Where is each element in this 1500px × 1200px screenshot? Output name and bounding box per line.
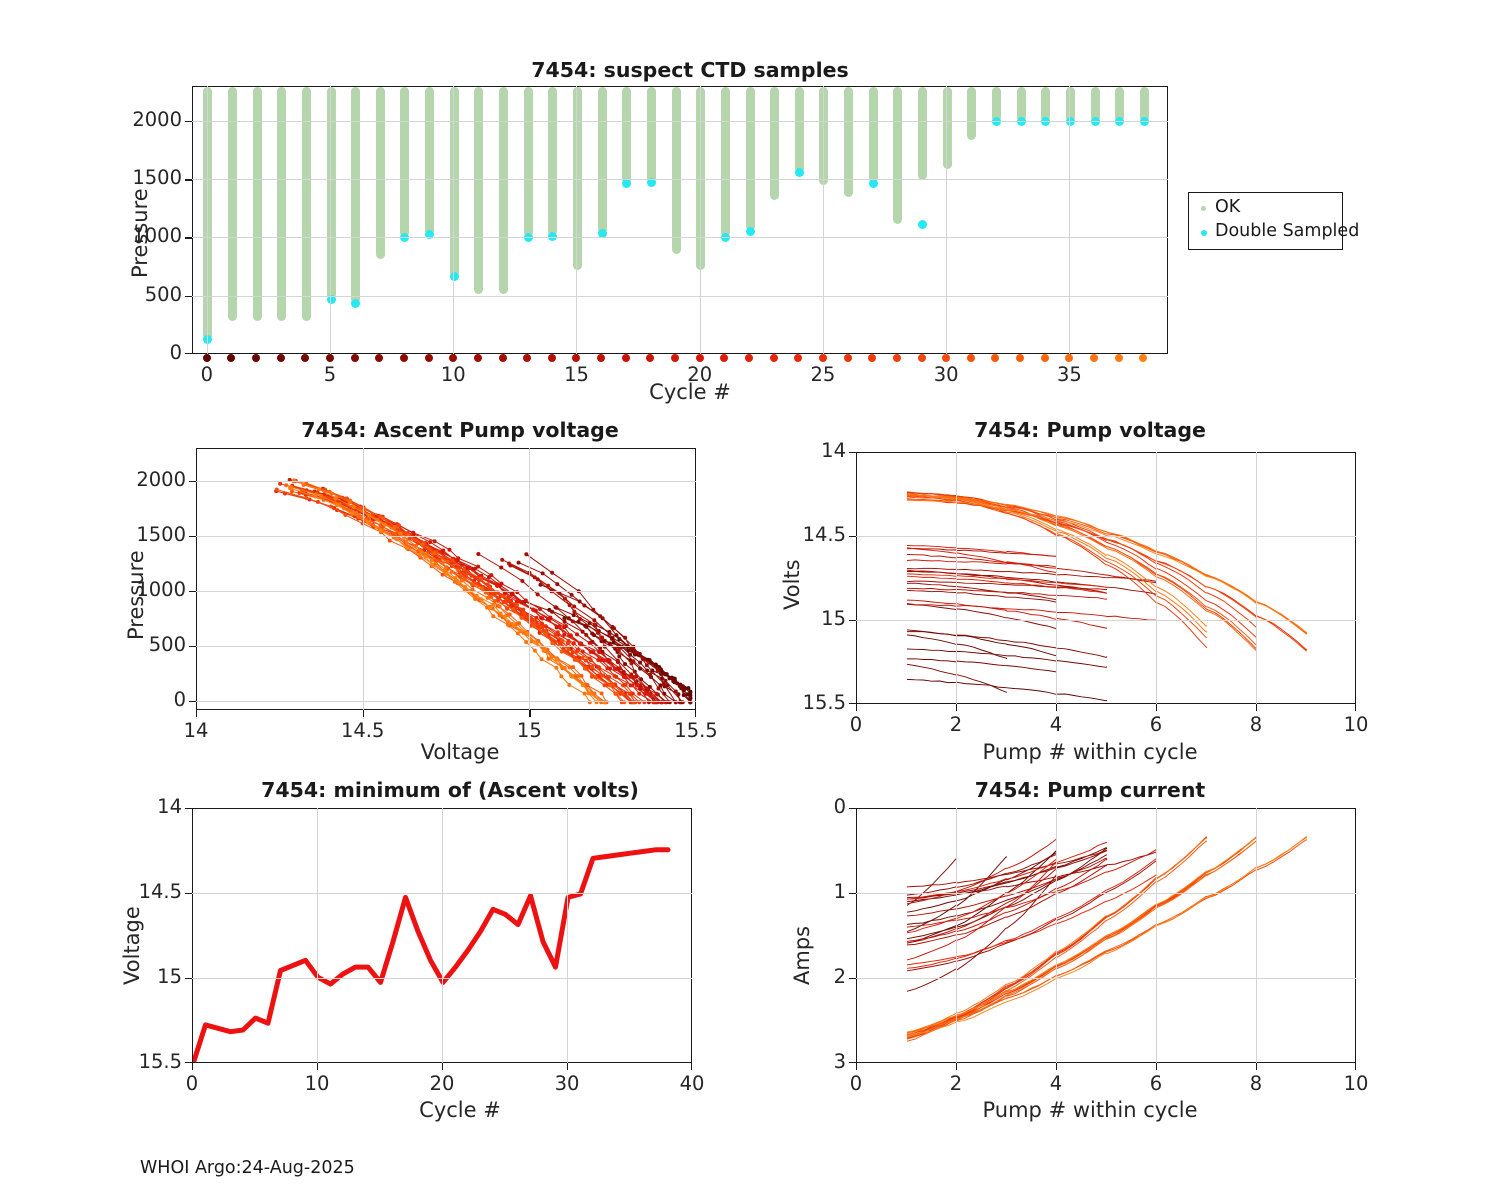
x-tick-mark <box>956 1063 957 1070</box>
pumpcurrent-x-axis-label: Pump # within cycle <box>920 1098 1260 1122</box>
gridline-horizontal <box>196 536 696 537</box>
gridline-horizontal <box>196 701 696 702</box>
cycle-axis-marker <box>1139 354 1147 362</box>
gridline-horizontal <box>856 893 1356 894</box>
y-tick-label-1000: 1000 <box>42 224 182 247</box>
x-tick-mark <box>1355 1063 1356 1070</box>
x-tick-mark <box>1156 704 1157 711</box>
y-tick-label-3: 3 <box>706 1050 846 1073</box>
cycle-axis-marker <box>425 354 433 362</box>
y-tick-mark <box>185 296 192 297</box>
y-tick-label-500: 500 <box>42 283 182 306</box>
ctd-double-sampled-marker <box>992 117 1001 126</box>
gridline-vertical <box>1256 808 1257 1063</box>
gridline-vertical <box>946 86 947 354</box>
y-tick-label-2: 2 <box>706 965 846 988</box>
cycle-axis-marker <box>227 354 235 362</box>
y-tick-label-500: 500 <box>46 633 186 656</box>
x-tick-mark <box>192 1063 193 1070</box>
cycle-axis-marker <box>696 354 704 362</box>
x-tick-mark <box>1056 704 1057 711</box>
legend-marker-double-sampled-icon <box>1201 230 1207 236</box>
ctd-bar <box>524 87 533 237</box>
y-tick-mark <box>849 703 856 704</box>
ctd-bar <box>253 87 262 321</box>
y-tick-mark <box>849 808 856 809</box>
y-tick-label-2000: 2000 <box>46 468 186 491</box>
x-tick-mark <box>363 710 364 717</box>
x-tick-mark <box>1156 1063 1157 1070</box>
gridline-vertical <box>1056 808 1057 1063</box>
ctd-bar <box>351 87 360 304</box>
x-tick-label-20: 20 <box>382 1072 502 1095</box>
ctd-bar <box>302 87 311 321</box>
y-tick-label-15.5: 15.5 <box>42 1050 182 1073</box>
pumpvolt-x-axis-label: Pump # within cycle <box>920 740 1260 764</box>
x-tick-mark <box>529 710 530 717</box>
cycle-axis-marker <box>671 354 679 362</box>
y-tick-mark <box>185 121 192 122</box>
ctd-bar <box>548 87 557 236</box>
x-tick-mark <box>856 1063 857 1070</box>
pumpcurrent-panel-title: 7454: Pump current <box>840 778 1340 802</box>
ctd-double-sampled-marker <box>1066 117 1075 126</box>
ctd-bar <box>795 87 804 173</box>
cycle-axis-marker <box>622 354 630 362</box>
ctd-bar <box>474 87 483 294</box>
ctd-bar <box>967 87 976 140</box>
x-tick-label-10: 10 <box>1296 713 1416 736</box>
x-tick-mark <box>1355 704 1356 711</box>
y-tick-mark <box>185 179 192 180</box>
ctd-double-sampled-marker <box>351 299 360 308</box>
ctd-bar <box>450 87 459 277</box>
cycle-axis-marker <box>1041 354 1049 362</box>
pumpcurrent-plot-area <box>856 808 1356 1063</box>
gridline-horizontal <box>196 646 696 647</box>
ctd-double-sampled-marker <box>746 227 755 236</box>
cycle-axis-marker <box>794 354 802 362</box>
x-tick-label-10: 10 <box>393 363 513 386</box>
ctd-bar <box>228 87 237 321</box>
gridline-vertical <box>1256 452 1257 704</box>
gridline-horizontal <box>192 179 1168 180</box>
cycle-axis-marker <box>844 354 852 362</box>
pump-voltage-traces <box>857 453 1356 704</box>
ctd-bar <box>376 87 385 259</box>
cycle-axis-marker <box>277 354 285 362</box>
minvolts-x-axis-label: Cycle # <box>290 1098 630 1122</box>
gridline-vertical <box>1156 808 1157 1063</box>
ctd-double-sampled-marker <box>548 232 557 241</box>
y-tick-label-1500: 1500 <box>42 166 182 189</box>
cycle-axis-marker <box>499 354 507 362</box>
gridline-horizontal <box>192 121 1168 122</box>
gridline-vertical <box>567 808 568 1063</box>
ctd-bar <box>647 87 656 183</box>
ctd-double-sampled-marker <box>1115 117 1124 126</box>
ctd-bar <box>869 87 878 183</box>
ctd-bar <box>943 87 952 169</box>
gridline-vertical <box>1156 452 1157 704</box>
gridline-vertical <box>576 86 577 354</box>
ctd-bar <box>598 87 607 234</box>
y-tick-label-0: 0 <box>46 688 186 711</box>
gridline-vertical <box>317 808 318 1063</box>
x-tick-label-35: 35 <box>1009 363 1129 386</box>
ctd-bar <box>893 87 902 224</box>
ctd-panel-title: 7454: suspect CTD samples <box>380 58 1000 82</box>
x-tick-mark <box>1056 1063 1057 1070</box>
y-tick-mark <box>185 978 192 979</box>
ctd-bar <box>918 87 927 180</box>
y-tick-mark <box>189 536 196 537</box>
ctd-plot-area <box>192 86 1168 354</box>
cycle-axis-marker <box>449 354 457 362</box>
gridline-horizontal <box>196 481 696 482</box>
y-tick-mark <box>849 1062 856 1063</box>
gridline-horizontal <box>856 978 1356 979</box>
pumpvolt-panel-title: 7454: Pump voltage <box>820 418 1360 442</box>
y-tick-mark <box>189 701 196 702</box>
y-tick-label-14: 14 <box>706 439 846 462</box>
cycle-axis-marker <box>893 354 901 362</box>
gridline-vertical <box>1056 452 1057 704</box>
ctd-bar <box>277 87 286 321</box>
cycle-axis-marker <box>1065 354 1073 362</box>
legend-label-ok: OK <box>1215 197 1240 217</box>
cycle-axis-marker <box>646 354 654 362</box>
cycle-axis-marker <box>770 354 778 362</box>
ascent-panel-title: 7454: Ascent Pump voltage <box>200 418 720 442</box>
ctd-double-sampled-marker <box>1140 117 1149 126</box>
x-tick-label-0: 0 <box>132 1072 252 1095</box>
y-tick-mark <box>189 481 196 482</box>
gridline-horizontal <box>192 296 1168 297</box>
y-tick-label-0: 0 <box>42 341 182 364</box>
x-tick-label-14: 14 <box>136 719 256 742</box>
x-tick-label-20: 20 <box>640 363 760 386</box>
y-tick-label-14: 14 <box>42 795 182 818</box>
ctd-bar <box>819 87 828 185</box>
y-tick-label-15.5: 15.5 <box>706 691 846 714</box>
gridline-vertical <box>956 452 957 704</box>
x-tick-mark <box>1256 704 1257 711</box>
y-tick-label-14.5: 14.5 <box>706 523 846 546</box>
y-tick-label-14.5: 14.5 <box>42 880 182 903</box>
cycle-axis-marker <box>745 354 753 362</box>
cycle-axis-marker <box>301 354 309 362</box>
cycle-axis-marker <box>819 354 827 362</box>
ctd-double-sampled-marker <box>1091 117 1100 126</box>
y-tick-label-15: 15 <box>706 607 846 630</box>
y-tick-mark <box>185 1062 192 1063</box>
cycle-axis-marker <box>400 354 408 362</box>
gridline-vertical <box>529 448 530 710</box>
cycle-axis-marker <box>523 354 531 362</box>
x-tick-label-30: 30 <box>507 1072 627 1095</box>
legend-marker-ok-icon <box>1201 206 1206 211</box>
gridline-horizontal <box>192 237 1168 238</box>
gridline-horizontal <box>196 591 696 592</box>
ctd-bar <box>327 87 336 299</box>
ctd-double-sampled-marker <box>203 335 212 344</box>
gridline-vertical <box>956 808 957 1063</box>
ctd-bar <box>622 87 631 184</box>
gridline-horizontal <box>856 536 1356 537</box>
ctd-double-sampled-marker <box>795 168 804 177</box>
y-tick-label-1000: 1000 <box>46 578 186 601</box>
cycle-axis-marker <box>868 354 876 362</box>
x-tick-mark <box>856 704 857 711</box>
x-tick-label-40: 40 <box>632 1072 752 1095</box>
y-tick-mark <box>185 353 192 354</box>
cycle-axis-marker <box>942 354 950 362</box>
y-tick-mark <box>189 591 196 592</box>
legend-label-double-sampled: Double Sampled <box>1215 221 1359 241</box>
x-tick-label-5: 5 <box>270 363 390 386</box>
x-tick-mark <box>695 710 696 717</box>
ctd-bar <box>425 87 434 235</box>
ctd-double-sampled-marker <box>918 220 927 229</box>
x-tick-label-10: 10 <box>1296 1072 1416 1095</box>
gridline-vertical <box>453 86 454 354</box>
x-tick-mark <box>691 1063 692 1070</box>
gridline-horizontal <box>856 620 1356 621</box>
y-tick-label-2000: 2000 <box>42 108 182 131</box>
y-tick-mark <box>185 237 192 238</box>
ascent-plot-area <box>196 448 696 710</box>
x-tick-mark <box>1256 1063 1257 1070</box>
gridline-vertical <box>363 448 364 710</box>
cycle-axis-marker <box>548 354 556 362</box>
y-tick-mark <box>849 893 856 894</box>
y-tick-label-0: 0 <box>706 795 846 818</box>
cycle-axis-marker <box>572 354 580 362</box>
ctd-double-sampled-marker <box>1041 117 1050 126</box>
cycle-axis-marker <box>203 354 211 362</box>
ctd-bar <box>746 87 755 231</box>
gridline-vertical <box>330 86 331 354</box>
ctd-double-sampled-marker <box>450 272 459 281</box>
x-tick-label-30: 30 <box>886 363 1006 386</box>
y-tick-mark <box>849 620 856 621</box>
cycle-axis-marker <box>326 354 334 362</box>
minvolts-panel-title: 7454: minimum of (Ascent volts) <box>175 778 725 802</box>
x-tick-label-15: 15 <box>516 363 636 386</box>
ctd-bar <box>400 87 409 237</box>
ctd-double-sampled-marker <box>622 179 631 188</box>
y-tick-mark <box>189 646 196 647</box>
cycle-axis-marker <box>351 354 359 362</box>
ctd-bar <box>499 87 508 294</box>
x-tick-label-15.5: 15.5 <box>636 719 756 742</box>
gridline-vertical <box>700 86 701 354</box>
gridline-vertical <box>823 86 824 354</box>
pumpvolt-y-axis-label: Volts <box>780 559 804 610</box>
x-tick-label-0: 0 <box>147 363 267 386</box>
ctd-double-sampled-marker <box>1017 117 1026 126</box>
x-tick-mark <box>442 1063 443 1070</box>
pump-current-traces <box>857 809 1356 1063</box>
cycle-axis-marker <box>1090 354 1098 362</box>
cycle-axis-marker <box>375 354 383 362</box>
gridline-vertical <box>207 86 208 354</box>
x-tick-mark <box>317 1063 318 1070</box>
y-tick-mark <box>849 978 856 979</box>
y-tick-label-1: 1 <box>706 880 846 903</box>
cycle-axis-marker <box>252 354 260 362</box>
ctd-bar <box>672 87 681 254</box>
cycle-axis-marker <box>597 354 605 362</box>
x-tick-label-14.5: 14.5 <box>303 719 423 742</box>
gridline-vertical <box>442 808 443 1063</box>
y-tick-label-1500: 1500 <box>46 523 186 546</box>
x-tick-label-15: 15 <box>469 719 589 742</box>
y-tick-mark <box>185 893 192 894</box>
footer-credit: WHOI Argo:24-Aug-2025 <box>140 1158 355 1178</box>
ctd-bar <box>770 87 779 200</box>
x-tick-mark <box>567 1063 568 1070</box>
pumpvolt-plot-area <box>856 452 1356 704</box>
ctd-bar <box>721 87 730 237</box>
ascent-x-axis-label: Voltage <box>290 740 630 764</box>
x-tick-label-25: 25 <box>763 363 883 386</box>
ctd-legend: OK Double Sampled <box>1188 192 1343 250</box>
x-tick-mark <box>196 710 197 717</box>
cycle-axis-marker <box>474 354 482 362</box>
y-tick-mark <box>185 808 192 809</box>
cycle-axis-marker <box>1016 354 1024 362</box>
cycle-axis-marker <box>991 354 999 362</box>
cycle-axis-marker <box>1115 354 1123 362</box>
ctd-bar <box>203 87 212 340</box>
y-tick-mark <box>849 452 856 453</box>
ascent-profiles <box>197 449 696 710</box>
cycle-axis-marker <box>967 354 975 362</box>
y-tick-label-15: 15 <box>42 965 182 988</box>
cycle-axis-marker <box>720 354 728 362</box>
cycle-axis-marker <box>918 354 926 362</box>
gridline-vertical <box>1069 86 1070 354</box>
y-tick-mark <box>849 536 856 537</box>
x-tick-mark <box>956 704 957 711</box>
x-tick-label-10: 10 <box>257 1072 377 1095</box>
